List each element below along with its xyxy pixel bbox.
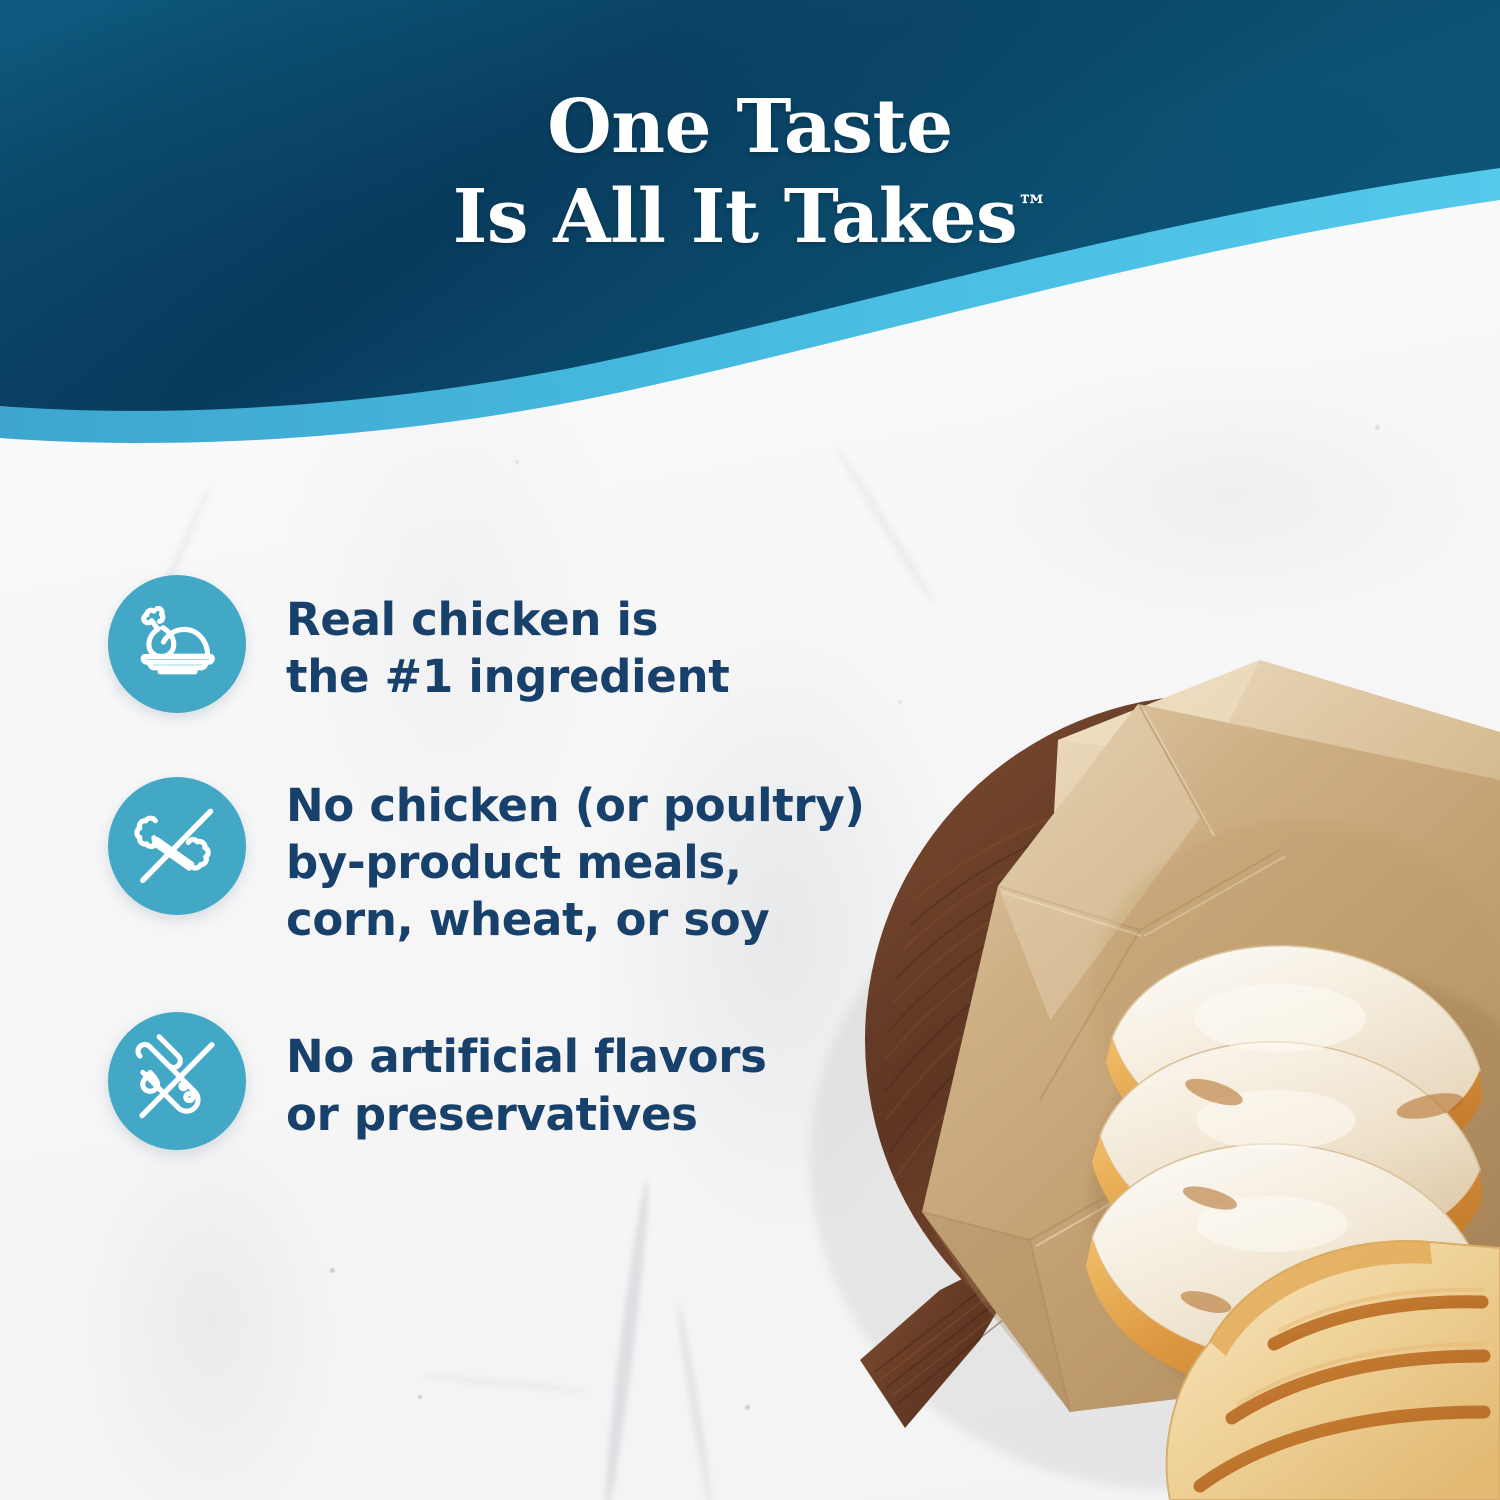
marble-vein [600, 1180, 654, 1500]
marble-vein [420, 1373, 590, 1395]
no-bone-icon [108, 777, 246, 915]
headline-text: One Taste Is All It Takes [453, 84, 1017, 260]
marble-speck [745, 1405, 750, 1410]
trademark-symbol: ™ [1017, 190, 1047, 225]
feature-list: Real chicken is the #1 ingredient No chi… [108, 575, 898, 1150]
page-title: One Taste Is All It Takes™ [0, 82, 1500, 263]
list-item-label: No artificial flavors or preservatives [286, 1012, 767, 1142]
marble-speck [898, 700, 902, 704]
list-item-label: Real chicken is the #1 ingredient [286, 575, 729, 705]
marble-vein [674, 1301, 716, 1500]
roast-chicken-platter-icon [108, 575, 246, 713]
list-item: Real chicken is the #1 ingredient [108, 575, 898, 713]
no-test-tube-icon [108, 1012, 246, 1150]
list-item: No chicken (or poultry) by-product meals… [108, 777, 898, 948]
header-banner: One Taste Is All It Takes™ [0, 0, 1500, 470]
list-item-label: No chicken (or poultry) by-product meals… [286, 777, 865, 948]
list-item: No artificial flavors or preservatives [108, 1012, 898, 1150]
marketing-banner-page: One Taste Is All It Takes™ [0, 0, 1500, 1500]
marble-speck [418, 1395, 422, 1399]
marble-speck [330, 1268, 335, 1273]
